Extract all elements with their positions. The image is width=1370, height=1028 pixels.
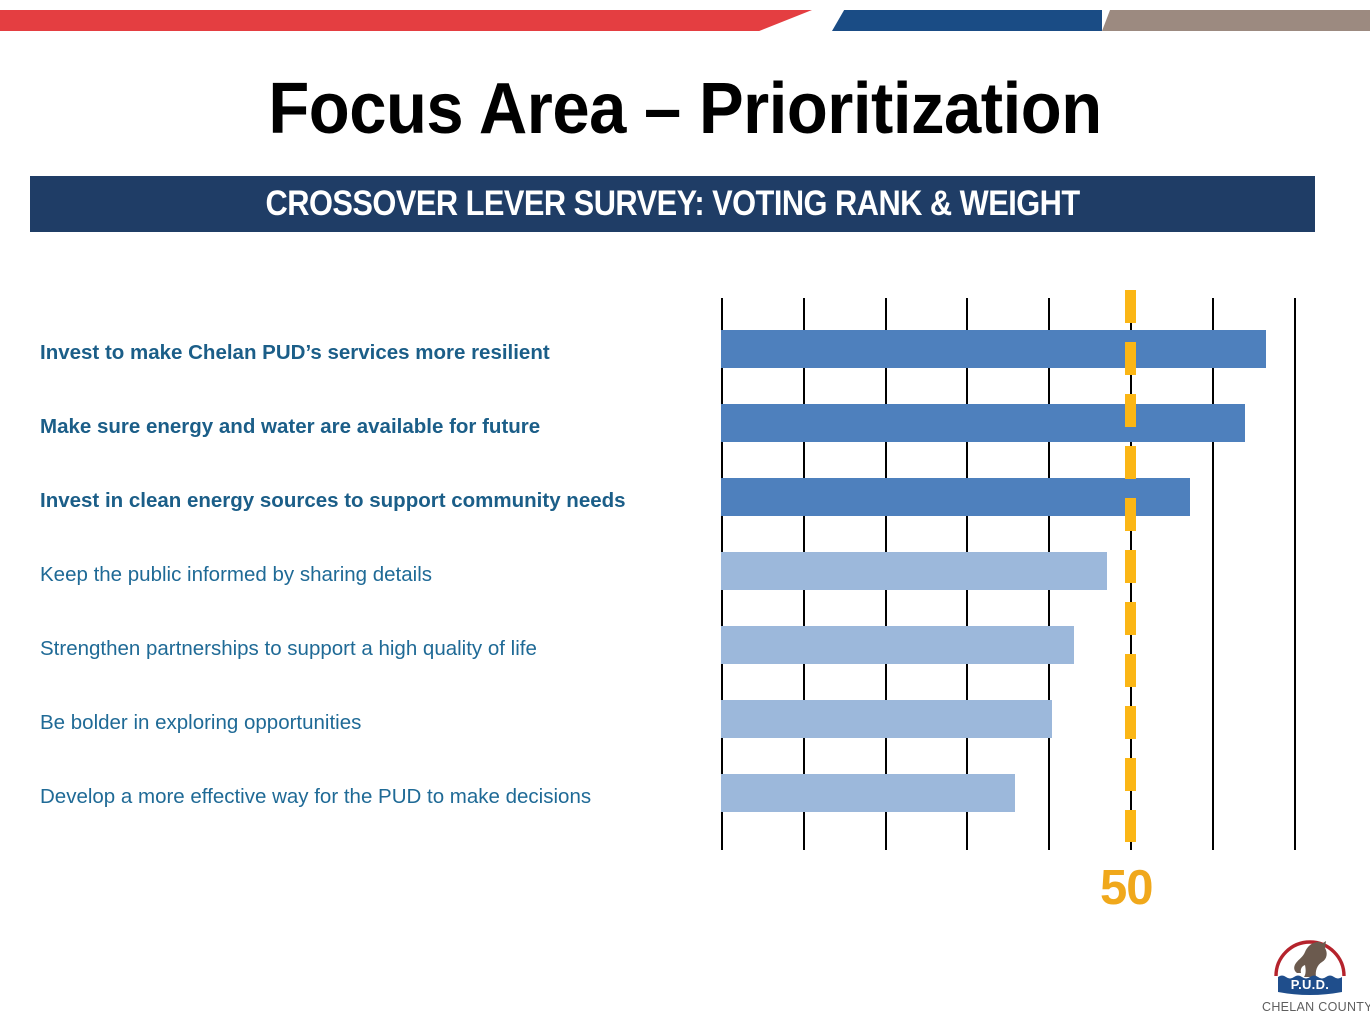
category-label-3: Keep the public informed by sharing deta… <box>40 565 432 586</box>
bar-3 <box>721 552 1107 590</box>
category-label-2: Invest in clean energy sources to suppor… <box>40 491 626 512</box>
top-bar-blue-segment <box>832 10 1102 31</box>
category-label-6: Develop a more effective way for the PUD… <box>40 787 591 808</box>
section-banner: CROSSOVER LEVER SURVEY: VOTING RANK & WE… <box>30 176 1315 232</box>
bar-4 <box>721 626 1074 664</box>
category-label-1: Make sure energy and water are available… <box>40 417 540 438</box>
page-title: Focus Area – Prioritization <box>48 68 1322 150</box>
bar-1 <box>721 404 1245 442</box>
top-decorative-bar <box>0 10 1370 31</box>
chelan-pud-logo: P.U.D. CHELAN COUNTY <box>1262 932 1358 1022</box>
section-banner-label: CROSSOVER LEVER SURVEY: VOTING RANK & WE… <box>265 184 1079 224</box>
pud-logo-icon: P.U.D. <box>1270 932 1350 998</box>
threshold-label: 50 <box>1100 860 1153 916</box>
chart-category-labels: Invest to make Chelan PUD’s services mor… <box>40 290 710 860</box>
category-label-4: Strengthen partnerships to support a hig… <box>40 639 537 660</box>
bar-0 <box>721 330 1266 368</box>
logo-caption: CHELAN COUNTY <box>1262 1000 1358 1014</box>
bar-5 <box>721 700 1052 738</box>
bar-2 <box>721 478 1190 516</box>
top-bar-tan-segment <box>1102 10 1370 31</box>
category-label-0: Invest to make Chelan PUD’s services mor… <box>40 343 550 364</box>
bar-6 <box>721 774 1015 812</box>
svg-text:P.U.D.: P.U.D. <box>1291 977 1329 992</box>
threshold-line-50 <box>1125 290 1136 842</box>
category-label-5: Be bolder in exploring opportunities <box>40 713 361 734</box>
top-bar-red-segment <box>0 10 812 31</box>
